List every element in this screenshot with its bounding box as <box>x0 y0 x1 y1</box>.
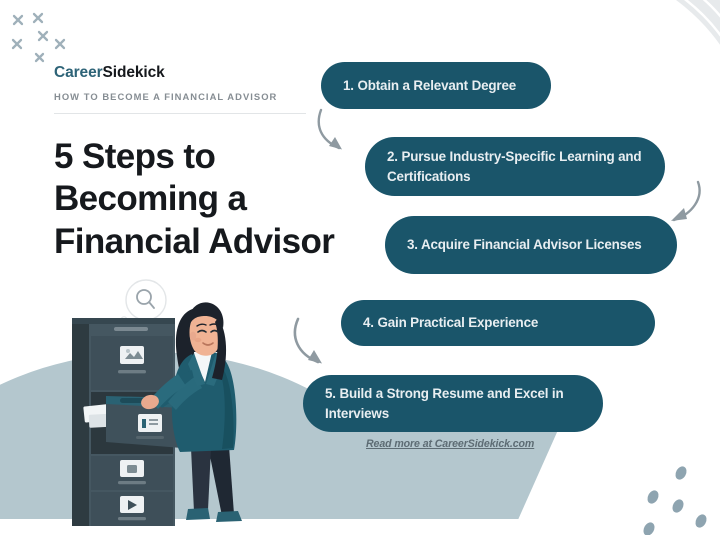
page-title-line-3: Financial Advisor <box>54 222 334 261</box>
step-card-3-label: 3. Acquire Financial Advisor Licenses <box>407 235 642 254</box>
step-card-5-label: 5. Build a Strong Resume and Excel in In… <box>325 384 581 422</box>
page-subtitle: HOW TO BECOME A FINANCIAL ADVISOR <box>54 91 354 113</box>
dots-decoration <box>628 453 714 535</box>
illustration-woman-at-filing-cabinet <box>58 278 288 536</box>
header-divider <box>54 113 306 114</box>
brand-logo-career: Career <box>54 64 103 81</box>
step-card-4-label: 4. Gain Practical Experience <box>363 313 538 332</box>
read-more-link[interactable]: Read more at CareerSidekick.com <box>366 438 534 450</box>
brand-logo: CareerSidekick <box>54 64 354 81</box>
step-card-2-label: 2. Pursue Industry-Specific Learning and… <box>387 147 643 185</box>
brand-logo-sidekick: Sidekick <box>103 64 165 81</box>
step-card-1: 1. Obtain a Relevant Degree <box>321 62 551 109</box>
x-marks-decoration <box>8 8 84 66</box>
step-card-2: 2. Pursue Industry-Specific Learning and… <box>365 137 665 196</box>
step-card-3: 3. Acquire Financial Advisor Licenses <box>385 216 677 274</box>
infographic-canvas: CareerSidekick HOW TO BECOME A FINANCIAL… <box>0 0 720 539</box>
step-card-5: 5. Build a Strong Resume and Excel in In… <box>303 375 603 432</box>
brand-header: CareerSidekick HOW TO BECOME A FINANCIAL… <box>54 64 354 114</box>
page-title: 5 Steps to Becoming a Financial Advisor <box>54 136 384 263</box>
page-title-line-1: 5 Steps to <box>54 137 215 176</box>
step-card-1-label: 1. Obtain a Relevant Degree <box>343 76 516 95</box>
step-card-4: 4. Gain Practical Experience <box>341 300 655 346</box>
page-title-line-2: Becoming a <box>54 179 246 218</box>
